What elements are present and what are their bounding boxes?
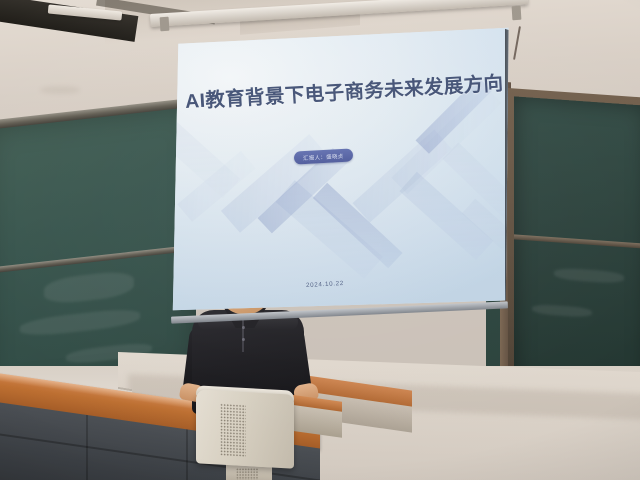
slide-background: AI教育背景下电子商务未来发展方向 汇报人：盛晓贞 2024.10.22 — [168, 26, 512, 312]
chalk-rail-middle-right — [514, 234, 640, 248]
chalkboard-left — [0, 104, 196, 396]
screen-left-edge — [168, 26, 173, 312]
projected-slide: AI教育背景下电子商务未来发展方向 汇报人：盛晓贞 2024.10.22 — [168, 26, 512, 312]
roller-bracket-right — [512, 6, 522, 21]
presenter-button — [242, 326, 245, 329]
roller-bracket-left — [160, 17, 170, 32]
presenter-button — [242, 338, 245, 341]
chalk-smudge — [44, 269, 134, 305]
slide-date: 2024.10.22 — [305, 279, 343, 288]
classroom-photo: AI教育背景下电子商务未来发展方向 汇报人：盛晓贞 2024.10.22 — [0, 0, 640, 480]
projector-screen: AI教育背景下电子商务未来发展方向 汇报人：盛晓贞 2024.10.22 — [168, 26, 512, 312]
chalk-smudge — [554, 267, 624, 284]
chalk-smudge — [20, 307, 140, 338]
lectern-base-grille — [236, 468, 258, 480]
chalkboard-right-frame — [508, 88, 640, 404]
chalkboard-right — [514, 96, 640, 395]
lectern-speaker-grille — [220, 403, 246, 456]
lectern — [196, 392, 308, 480]
desk-panel-divider — [186, 429, 188, 480]
desk-panel-divider — [86, 415, 88, 480]
screen-right-edge — [505, 26, 512, 312]
presenter-placket — [242, 318, 244, 352]
chalk-rail-middle — [0, 244, 196, 274]
chalk-smudge — [532, 304, 592, 318]
wall-scuff — [40, 86, 80, 94]
